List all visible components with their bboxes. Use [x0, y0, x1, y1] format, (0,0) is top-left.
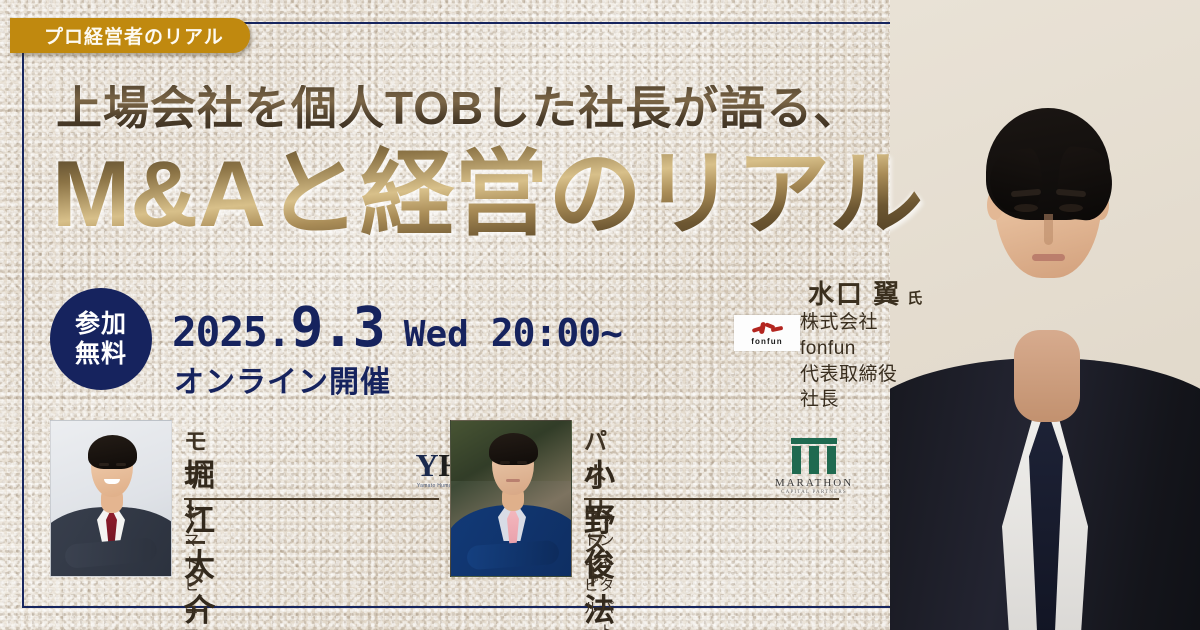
main-speaker-name-row: 水口 翼氏 [808, 274, 922, 311]
main-speaker-affiliation: 株式会社fonfun 代表取締役社長 [800, 310, 900, 413]
portrait-nose [1044, 214, 1053, 245]
main-speaker-name: 水口 翼 [808, 279, 901, 309]
marathon-pillar-left [792, 446, 801, 474]
portrait-eye-left [1014, 204, 1038, 212]
moderator-photo [50, 420, 172, 577]
main-speaker-photo [890, 0, 1200, 630]
free-badge-line2: 無料 [75, 339, 127, 370]
marathon-pillar-center [809, 446, 819, 474]
panelist-eye-right [517, 461, 527, 464]
panelist-eye-left [500, 461, 510, 464]
fonfun-stroke-4 [771, 326, 784, 332]
event-year: 2025. [172, 308, 290, 356]
event-format: オンライン開催 [174, 357, 391, 401]
headline-title: M&Aと経営のリアル [52, 145, 923, 244]
marathon-mark-icon [787, 438, 841, 474]
category-badge: プロ経営者のリアル [10, 18, 250, 53]
event-time: 20:00~ [491, 311, 622, 355]
category-badge-label: プロ経営者のリアル [44, 22, 224, 49]
event-poster: プロ経営者のリアル 上場会社を個人TOBした社長が語る、 M&Aと経営のリアル … [0, 0, 1200, 630]
marathon-wordmark: MARATHON [775, 477, 853, 489]
marathon-pillar-right [827, 446, 836, 474]
main-speaker-portrait-image [890, 0, 1200, 630]
free-badge-line1: 参加 [75, 309, 127, 340]
fonfun-mark-icon [750, 320, 784, 336]
main-speaker-name-suffix: 氏 [907, 290, 922, 307]
moderator-affiliation: ヤマトヒューマンキャピタル(株) 代表取締役 一般社団法人日本プロ経営者協会 代… [184, 507, 210, 630]
moderator-divider [184, 498, 439, 500]
moderator-eye-left [99, 463, 109, 466]
fonfun-logo-text: fonfun [751, 337, 782, 346]
marathon-logo-sub: CAPITAL PARTNERS [781, 490, 847, 495]
portrait-mouth [1032, 254, 1065, 261]
headline-subtitle: 上場会社を個人TOBした社長が語る、 [56, 85, 860, 131]
marathon-logo: MARATHON CAPITAL PARTNERS [768, 438, 860, 500]
portrait-eye-right [1059, 204, 1083, 212]
panelist-affiliation: マラトンキャピタルパートナーズ(株) 代表取締役 共同パートナー 一般社団法人日… [584, 507, 614, 630]
marathon-bar-top [791, 438, 837, 444]
yhc-initial: Y [415, 447, 438, 483]
event-weekday: Wed [404, 314, 469, 355]
panelist-photo [450, 420, 572, 577]
moderator-eye-right [116, 463, 126, 466]
panelist-hair [489, 433, 538, 465]
event-date: 9.3 [290, 295, 383, 359]
portrait-neck [1014, 330, 1080, 422]
event-datetime: 2025.9.3Wed20:00~ [172, 295, 622, 359]
fonfun-logo: fonfun [734, 315, 800, 351]
moderator-smile [104, 479, 120, 484]
panelist-mouth [506, 479, 520, 482]
free-admission-badge: 参加 無料 [50, 288, 152, 390]
moderator-hair [88, 435, 137, 469]
